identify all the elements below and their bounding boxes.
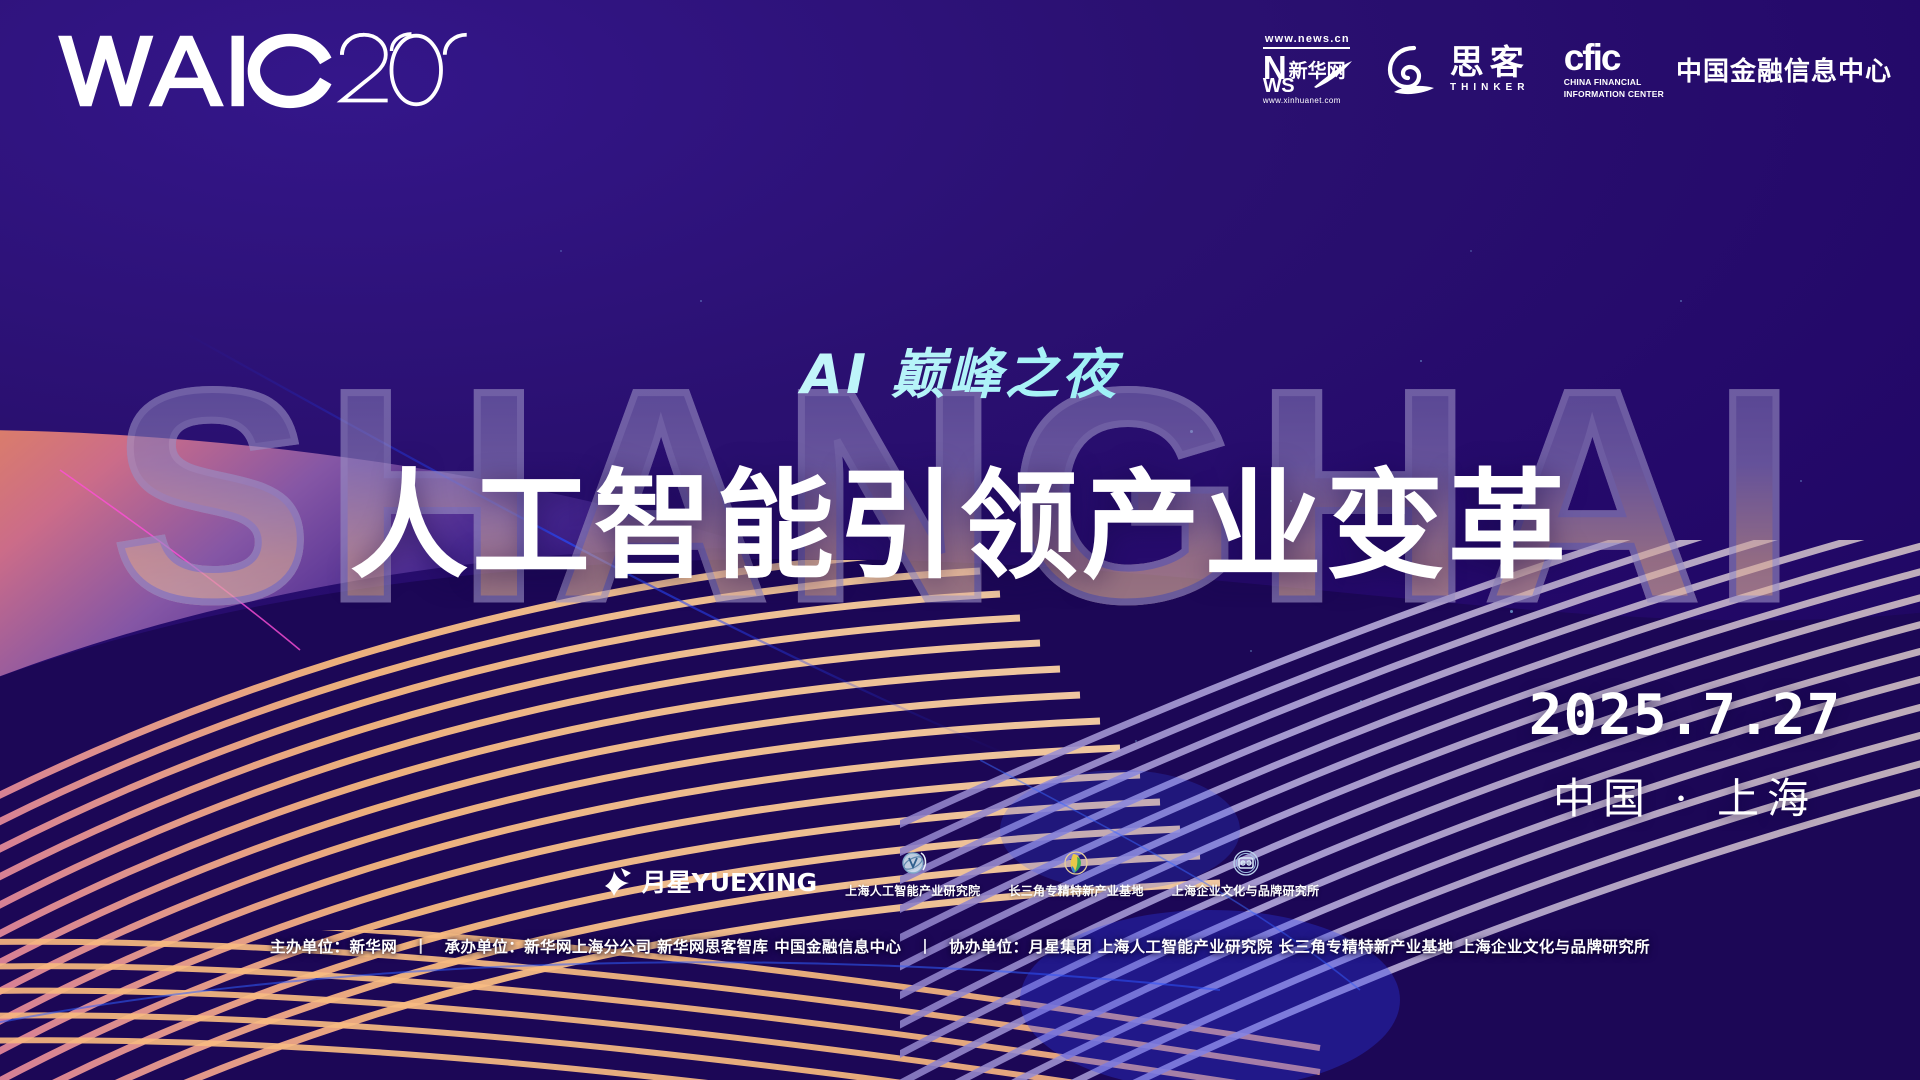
secbri-name: 上海企业文化与品牌研究所 [1172, 882, 1320, 899]
event-location: 中国 · 上海 [1520, 778, 1850, 820]
xinhua-url-bottom: www.xinhuanet.com [1263, 97, 1341, 105]
credits-coorganizer: 协办单位：月星集团 上海人工智能产业研究院 长三角专精特新产业基地 上海企业文化… [949, 938, 1650, 956]
sponsor-saiii[interactable]: 上海人工智能产业研究院 [845, 848, 980, 899]
star-particles [0, 0, 1920, 1080]
xinhua-swoosh-icon [1312, 59, 1354, 89]
cfic-name-cn: 中国金融信息中心 [1676, 51, 1892, 88]
sponsor-logo-strip: 月星YUEXING 上海人工智能产业研究院 长三角专精特新产业基地 [0, 848, 1920, 899]
sponsor-yuexing[interactable]: 月星YUEXING [601, 863, 818, 899]
sponsor-yrd-base[interactable]: 长三角专精特新产业基地 [1008, 848, 1143, 899]
cfic-wordmark: cfic [1564, 39, 1664, 76]
sponsor-secbri[interactable]: 上海企业文化与品牌研究所 [1172, 848, 1320, 899]
waic-2025-logo [52, 30, 470, 110]
event-banner: SHANGHAI www.n [0, 0, 1920, 1080]
event-subtitle: AI 巅峰之夜 [0, 330, 1920, 409]
thinker-name-cn: 思客 [1450, 46, 1530, 80]
header-partner-logos: www.news.cn N 新华网 WS www.xinhuanet.com 思… [1263, 34, 1892, 105]
event-date: 2025.7.27 [1520, 688, 1850, 744]
credits-separator-1: 丨 [403, 938, 439, 956]
cfic-logo[interactable]: cfic CHINA FINANCIAL INFORMATION CENTER … [1564, 39, 1892, 100]
seal-circle-icon [1230, 848, 1262, 880]
credits-line: 主办单位：新华网 丨 承办单位：新华网上海分公司 新华网思客智库 中国金融信息中… [0, 935, 1920, 957]
globe-atom-icon [897, 848, 929, 880]
saiii-name: 上海人工智能产业研究院 [845, 882, 980, 899]
map-circle-icon [1060, 848, 1092, 880]
background-wave-artwork [0, 0, 1920, 1080]
credits-separator-2: 丨 [907, 938, 943, 956]
yuexing-name: 月星YUEXING [642, 863, 818, 899]
xinhua-logo[interactable]: www.news.cn N 新华网 WS www.xinhuanet.com [1263, 34, 1350, 105]
event-headline: 人工智能引领产业变革 [0, 430, 1920, 601]
thinker-swirl-icon [1384, 42, 1440, 98]
thinker-logo[interactable]: 思客 THINKER [1384, 42, 1530, 98]
cfic-sub-en-2: INFORMATION CENTER [1564, 90, 1664, 100]
date-location-block: 2025.7.27 中国 · 上海 [1520, 688, 1850, 820]
xinhua-url-top: www.news.cn [1263, 34, 1350, 45]
watermark-text: SHANGHAI [112, 345, 1808, 645]
thinker-name-en: THINKER [1450, 83, 1529, 93]
yuexing-star-icon [601, 864, 635, 898]
credits-organizer: 主办单位：新华网 [270, 938, 397, 956]
shanghai-watermark: SHANGHAI [0, 330, 1920, 660]
xinhua-letters-ws: WS [1263, 76, 1294, 96]
credits-host: 承办单位：新华网上海分公司 新华网思客智库 中国金融信息中心 [445, 938, 902, 956]
cfic-sub-en-1: CHINA FINANCIAL [1564, 78, 1664, 88]
yrd-base-name: 长三角专精特新产业基地 [1008, 882, 1143, 899]
